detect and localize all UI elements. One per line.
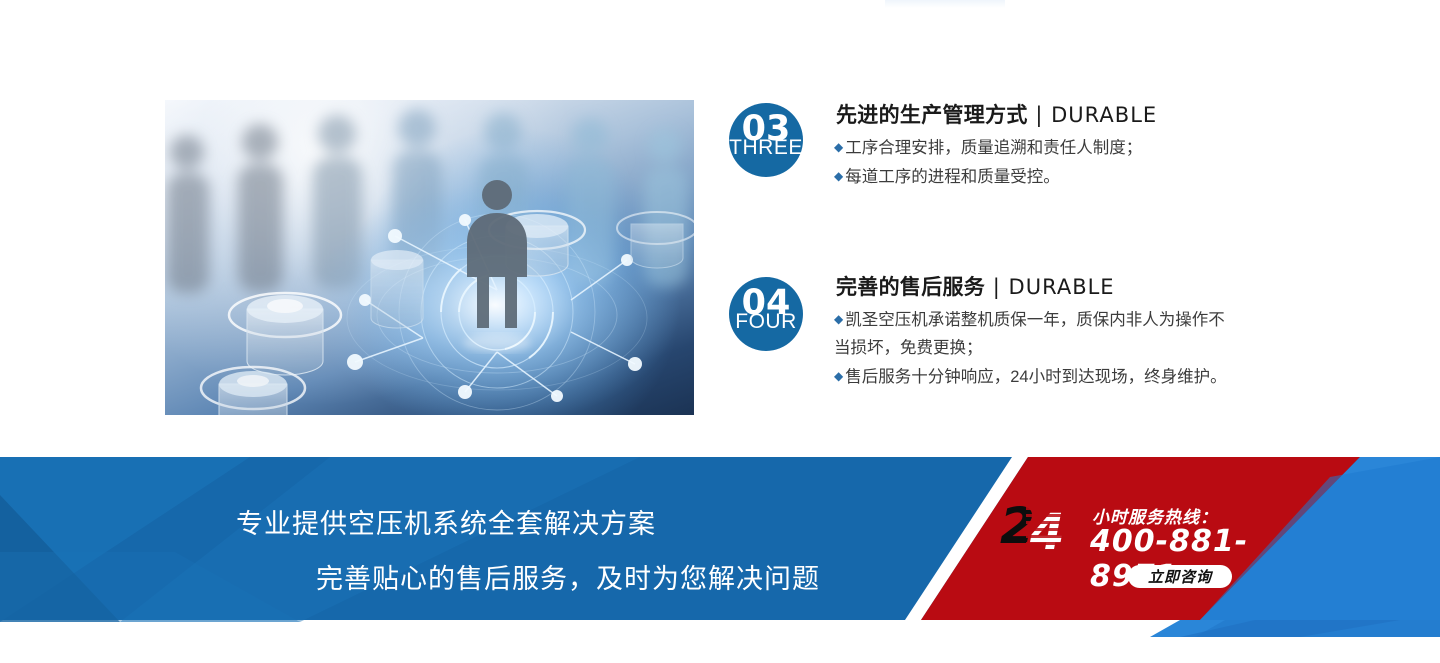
badge-word: FOUR xyxy=(729,310,803,334)
page-root: 03 THREE 先进的生产管理方式 | DURABLE ◆工序合理安排，质量追… xyxy=(0,0,1440,663)
24-hour-logo: 2 4 xyxy=(1000,501,1088,555)
feature-line-text: 凯圣空压机承诺整机质保一年，质保内非人为操作不当损坏，免费更换； xyxy=(834,311,1225,357)
feature-title-cn: 完善的售后服务 xyxy=(836,275,985,299)
feature-line: ◆售后服务十分钟响应，24小时到达现场，终身维护。 xyxy=(834,362,1236,391)
diamond-bullet-icon: ◆ xyxy=(834,169,843,183)
feature-lines-03: ◆工序合理安排，质量追溯和责任人制度； ◆每道工序的进程和质量受控。 xyxy=(834,133,1234,191)
illustration-graphics xyxy=(165,100,694,415)
feature-title-04: 完善的售后服务 | DURABLE xyxy=(836,271,1115,301)
feature-title-sep: | xyxy=(985,275,1008,299)
feature-line: ◆每道工序的进程和质量受控。 xyxy=(834,162,1234,191)
badge-04: 04 FOUR xyxy=(729,277,803,351)
badge-03: 03 THREE xyxy=(729,103,803,177)
feature-line: ◆工序合理安排，质量追溯和责任人制度； xyxy=(834,133,1234,162)
feature-line-text: 每道工序的进程和质量受控。 xyxy=(845,168,1060,186)
badge-word: THREE xyxy=(729,136,803,160)
diamond-bullet-icon: ◆ xyxy=(834,369,843,383)
diamond-bullet-icon: ◆ xyxy=(834,140,843,154)
feature-title-cn: 先进的生产管理方式 xyxy=(836,103,1028,127)
network-people-illustration xyxy=(165,100,694,415)
feature-lines-04: ◆凯圣空压机承诺整机质保一年，质保内非人为操作不当损坏，免费更换； ◆售后服务十… xyxy=(834,305,1236,391)
feature-title-en: DURABLE xyxy=(1009,275,1115,299)
hotline-digit-4: 4 xyxy=(1030,507,1065,557)
feature-line-text: 售后服务十分钟响应，24小时到达现场，终身维护。 xyxy=(845,368,1226,386)
feature-title-en: DURABLE xyxy=(1051,103,1157,127)
feature-line: ◆凯圣空压机承诺整机质保一年，质保内非人为操作不当损坏，免费更换； xyxy=(834,305,1236,362)
feature-title-sep: | xyxy=(1028,103,1051,127)
feature-title-03: 先进的生产管理方式 | DURABLE xyxy=(836,99,1157,129)
top-edge-artifact xyxy=(885,0,1005,8)
feature-line-text: 工序合理安排，质量追溯和责任人制度； xyxy=(845,139,1142,157)
consult-now-button[interactable]: 立即咨询 xyxy=(1128,565,1232,588)
diamond-bullet-icon: ◆ xyxy=(834,312,843,326)
hotline-group: 2 4 小时服务热线： 400-881-8971 xyxy=(1000,495,1300,615)
